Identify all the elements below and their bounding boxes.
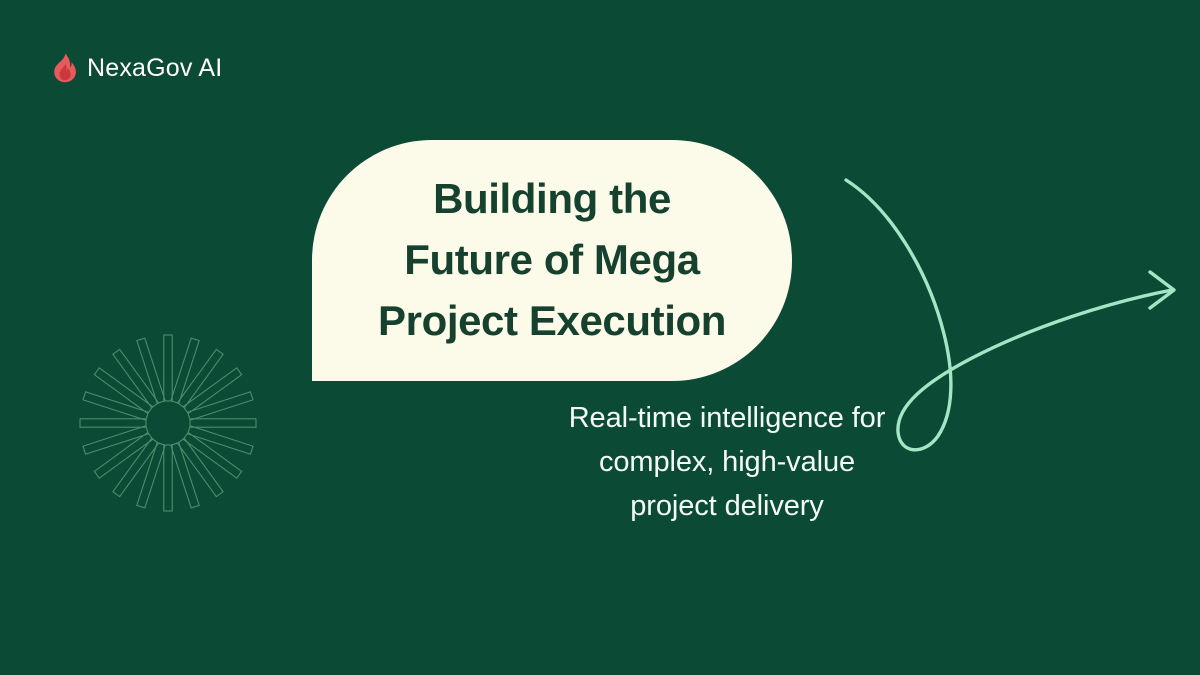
subtitle: Real-time intelligence for complex, high… xyxy=(492,396,962,528)
heading-line-1: Building the xyxy=(433,169,671,230)
brand-logo: NexaGov AI xyxy=(52,48,222,88)
brand-name-label: NexaGov AI xyxy=(87,56,222,81)
heading-line-2: Future of Mega xyxy=(404,230,699,291)
heading-line-3: Project Execution xyxy=(378,291,726,352)
starburst-decoration xyxy=(78,333,258,513)
slide-canvas: NexaGov AI xyxy=(0,0,1200,675)
subtitle-line-3: project delivery xyxy=(492,484,962,528)
heading-card: Building the Future of Mega Project Exec… xyxy=(312,140,792,381)
subtitle-line-2: complex, high-value xyxy=(492,440,962,484)
subtitle-line-1: Real-time intelligence for xyxy=(492,396,962,440)
flame-icon xyxy=(52,53,78,83)
